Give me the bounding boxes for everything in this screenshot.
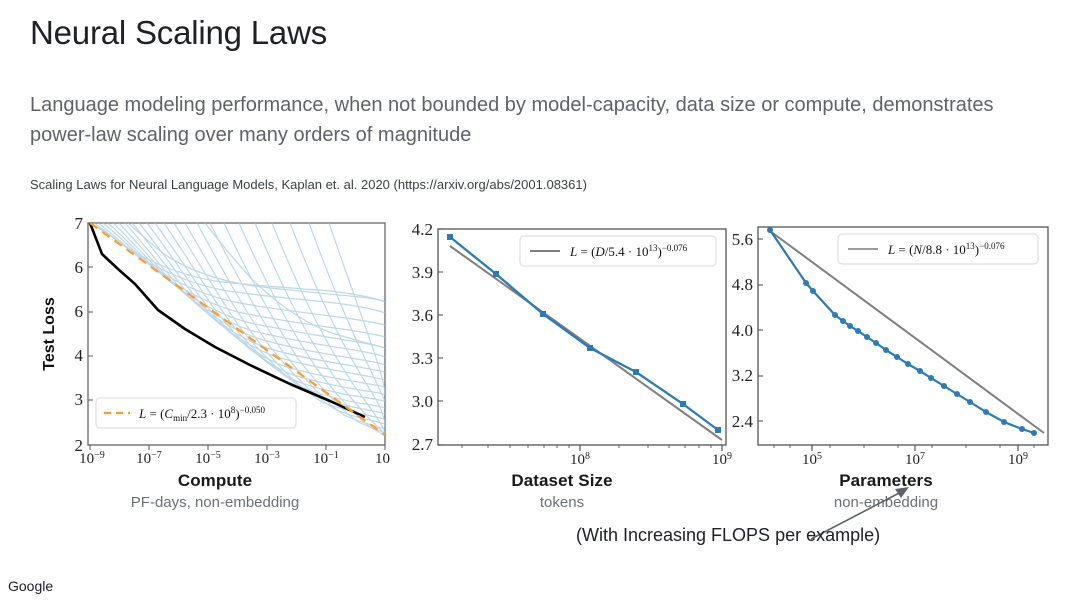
x-tick-marks bbox=[90, 445, 385, 450]
svg-text:3.9: 3.9 bbox=[412, 263, 433, 282]
caption-dataset: Dataset Size tokens bbox=[392, 471, 732, 511]
svg-text:109: 109 bbox=[1008, 451, 1028, 467]
svg-text:4.8: 4.8 bbox=[732, 275, 753, 294]
svg-text:105: 105 bbox=[802, 451, 822, 467]
svg-text:6: 6 bbox=[75, 302, 84, 321]
svg-text:10−7: 10−7 bbox=[136, 450, 162, 467]
chart-parameters: 5.6 4.8 4.0 3.2 2.4 bbox=[712, 205, 1060, 550]
svg-text:10−5: 10−5 bbox=[195, 450, 221, 467]
svg-text:10−3: 10−3 bbox=[254, 450, 280, 467]
x-tick-labels: 105 107 109 bbox=[802, 451, 1028, 467]
svg-text:5.6: 5.6 bbox=[732, 230, 753, 249]
chart-parameters-svg: 5.6 4.8 4.0 3.2 2.4 bbox=[712, 205, 1060, 467]
chart-dataset-svg: 4.2 3.9 3.6 3.3 3.0 2.7 bbox=[392, 205, 732, 467]
svg-text:7: 7 bbox=[75, 214, 84, 233]
chart-dataset: 4.2 3.9 3.6 3.3 3.0 2.7 bbox=[392, 205, 732, 550]
svg-text:4: 4 bbox=[75, 346, 84, 365]
xsublabel-dataset: tokens bbox=[392, 494, 732, 511]
svg-text:107: 107 bbox=[905, 451, 925, 467]
x-major-ticks bbox=[812, 445, 1018, 451]
svg-text:2.4: 2.4 bbox=[732, 412, 754, 431]
svg-text:3.3: 3.3 bbox=[412, 349, 433, 368]
svg-text:2.7: 2.7 bbox=[412, 435, 434, 454]
brand-label: Google bbox=[8, 578, 53, 594]
svg-text:3.2: 3.2 bbox=[732, 366, 753, 385]
x-tick-labels: 108 109 bbox=[570, 451, 732, 467]
x-major-ticks bbox=[580, 445, 722, 451]
slide-root: Neural Scaling Laws Language modeling pe… bbox=[0, 0, 1080, 610]
x-tick-labels: 10−9 10−7 10−5 10−3 10−1 101 bbox=[79, 450, 390, 467]
caption-parameters: Parameters non-embedding bbox=[712, 471, 1060, 511]
xsublabel-compute: PF-days, non-embedding bbox=[40, 494, 390, 511]
caption-compute: Compute PF-days, non-embedding bbox=[40, 471, 390, 511]
svg-text:4.0: 4.0 bbox=[732, 321, 753, 340]
citation-text: Scaling Laws for Neural Language Models,… bbox=[30, 177, 587, 192]
svg-text:10−1: 10−1 bbox=[313, 450, 339, 467]
y-tick-labels: 5.6 4.8 4.0 3.2 2.4 bbox=[732, 230, 754, 431]
xsublabel-parameters: non-embedding bbox=[712, 494, 1060, 511]
svg-text:6: 6 bbox=[75, 258, 84, 277]
svg-text:101: 101 bbox=[375, 450, 390, 467]
xlabel-compute: Compute bbox=[40, 471, 390, 491]
svg-text:3: 3 bbox=[75, 390, 84, 409]
figure-panel-group: Test Loss 7 6 6 4 3 2 bbox=[0, 205, 1080, 550]
svg-text:10−9: 10−9 bbox=[79, 450, 105, 467]
annotation-text: (With Increasing FLOPS per example) bbox=[576, 525, 880, 546]
page-title: Neural Scaling Laws bbox=[30, 14, 327, 52]
xlabel-dataset: Dataset Size bbox=[392, 471, 732, 491]
legend-compute: L = (Cmin/2.3 · 108)−0.050 bbox=[96, 398, 296, 428]
y-tick-labels: 4.2 3.9 3.6 3.3 3.0 2.7 bbox=[412, 220, 434, 454]
svg-text:108: 108 bbox=[570, 451, 590, 467]
svg-text:4.2: 4.2 bbox=[412, 220, 433, 239]
slide-subtitle: Language modeling performance, when not … bbox=[30, 90, 1050, 150]
legend-parameters: L = (N/8.8 · 1013)−0.076 bbox=[838, 234, 1038, 264]
y-axis-label-compute: Test Loss bbox=[41, 297, 58, 371]
xlabel-parameters: Parameters bbox=[712, 471, 1060, 491]
svg-text:3.6: 3.6 bbox=[412, 306, 433, 325]
legend-dataset: L = (D/5.4 · 1013)−0.076 bbox=[520, 236, 716, 266]
y-tick-labels: 7 6 6 4 3 2 bbox=[75, 214, 84, 455]
chart-compute: Test Loss 7 6 6 4 3 2 bbox=[40, 205, 390, 550]
chart-compute-svg: Test Loss 7 6 6 4 3 2 bbox=[40, 205, 390, 467]
svg-text:3.0: 3.0 bbox=[412, 392, 433, 411]
